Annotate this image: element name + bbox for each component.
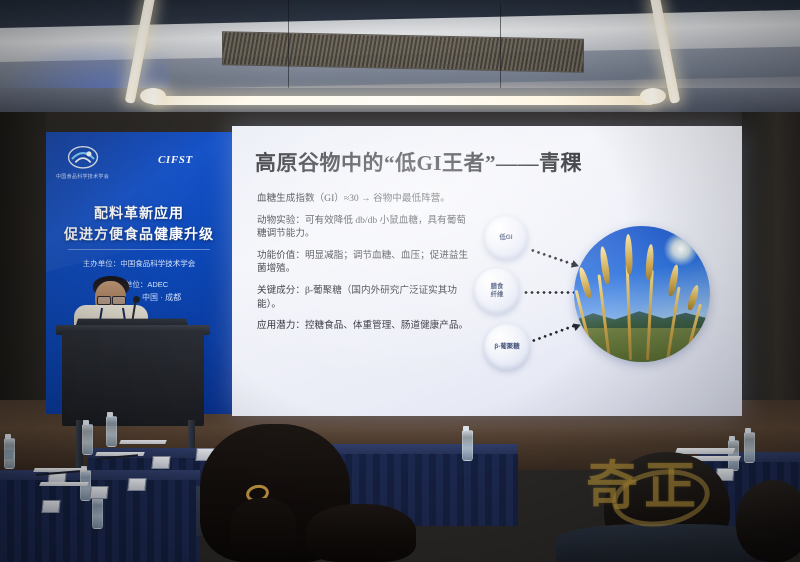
connector-dots-mid bbox=[523, 291, 579, 294]
water-bottle bbox=[92, 498, 103, 529]
water-bottle bbox=[106, 416, 117, 447]
water-bottle bbox=[744, 432, 755, 463]
name-placard bbox=[89, 486, 108, 499]
connector-dots-top bbox=[530, 248, 574, 266]
connector-dots-bottom bbox=[530, 324, 576, 343]
slide-bullet-2: 动物实验：可有效降低 db/db 小鼠血糖，具有葡萄糖调节能力。 bbox=[257, 214, 472, 241]
banner-subtitle-line2: 支持单位：ADEC bbox=[46, 279, 232, 290]
slide-bullet-1: 血糖生成指数（GI）≈30 → 谷物中最低阵营。 bbox=[257, 192, 472, 206]
audience-person-1-ponytail bbox=[230, 498, 296, 562]
water-bottle bbox=[462, 430, 473, 461]
name-placard bbox=[151, 456, 170, 469]
bottle-cap bbox=[83, 420, 89, 425]
photo-sun bbox=[664, 232, 698, 266]
slide-title: 高原谷物中的“低GI王者”——青稞 bbox=[255, 147, 725, 177]
banner-subtitle-line1: 主办单位：中国食品科学技术学会 bbox=[46, 258, 232, 269]
bottle-cap bbox=[729, 436, 735, 441]
projection-slide: 高原谷物中的“低GI王者”——青稞 血糖生成指数（GI）≈30 → 谷物中最低阵… bbox=[232, 126, 742, 416]
cifst-logo-icon bbox=[66, 144, 100, 174]
hanging-wire-1 bbox=[288, 0, 289, 95]
slide-bullet-3: 功能价值：明显减脂；调节血糖、血压；促进益生菌增殖。 bbox=[257, 249, 472, 276]
banner-title-line1: 配料革新应用 bbox=[46, 203, 232, 223]
slide-bullet-4: 关键成分：β-葡聚糖（国内外研究广泛证实其功能）。 bbox=[257, 284, 472, 311]
ceiling bbox=[0, 0, 800, 120]
name-placard bbox=[41, 500, 60, 513]
led-strip-bottom bbox=[150, 96, 655, 105]
slide-node-beta-glucan: β-葡聚糖 bbox=[484, 324, 530, 370]
bottle-cap bbox=[463, 426, 469, 431]
bottle-label bbox=[4, 450, 13, 459]
conference-photo: 中国食品科学技术学会 CIFST 配料革新应用 促进方便食品健康升级 主办单位：… bbox=[0, 0, 800, 562]
slide-node-low-gi: 低GI bbox=[484, 216, 528, 260]
slide-body-text: 血糖生成指数（GI）≈30 → 谷物中最低阵营。 动物实验：可有效降低 db/d… bbox=[257, 192, 472, 341]
speaker-glasses-left bbox=[97, 296, 111, 305]
led-corner-right bbox=[640, 88, 666, 104]
bottle-cap bbox=[745, 428, 751, 433]
slide-node-dietary-fiber: 膳食 纤维 bbox=[474, 268, 520, 314]
water-bottle bbox=[82, 424, 93, 455]
banner-org-abbr: CIFST bbox=[158, 154, 193, 166]
banner-divider bbox=[68, 249, 210, 250]
bottle-cap bbox=[5, 434, 11, 439]
highland-barley-photo bbox=[574, 226, 710, 362]
document-sheet bbox=[119, 440, 167, 444]
slide-bullet-5: 应用潜力：控糖食品、体重管理、肠道健康产品。 bbox=[257, 319, 472, 333]
banner-title-line2: 促进方便食品健康升级 bbox=[46, 224, 232, 244]
podium bbox=[62, 330, 204, 426]
microphone-head-icon bbox=[133, 296, 140, 303]
audience-person-4-head bbox=[736, 480, 800, 562]
name-placard bbox=[127, 478, 146, 491]
audience-person-2-hair bbox=[306, 504, 416, 562]
document-sheet bbox=[39, 482, 89, 486]
wall-panel-left bbox=[0, 112, 46, 412]
led-corner-left bbox=[140, 88, 166, 104]
wall-panel-right bbox=[742, 112, 800, 412]
banner-city: 中国 · 成都 bbox=[142, 292, 181, 303]
bottle-cap bbox=[107, 412, 113, 417]
banner-logo-caption: 中国食品科学技术学会 bbox=[56, 173, 109, 180]
hanging-wire-2 bbox=[500, 4, 501, 96]
speaker-glasses-right bbox=[112, 296, 126, 305]
